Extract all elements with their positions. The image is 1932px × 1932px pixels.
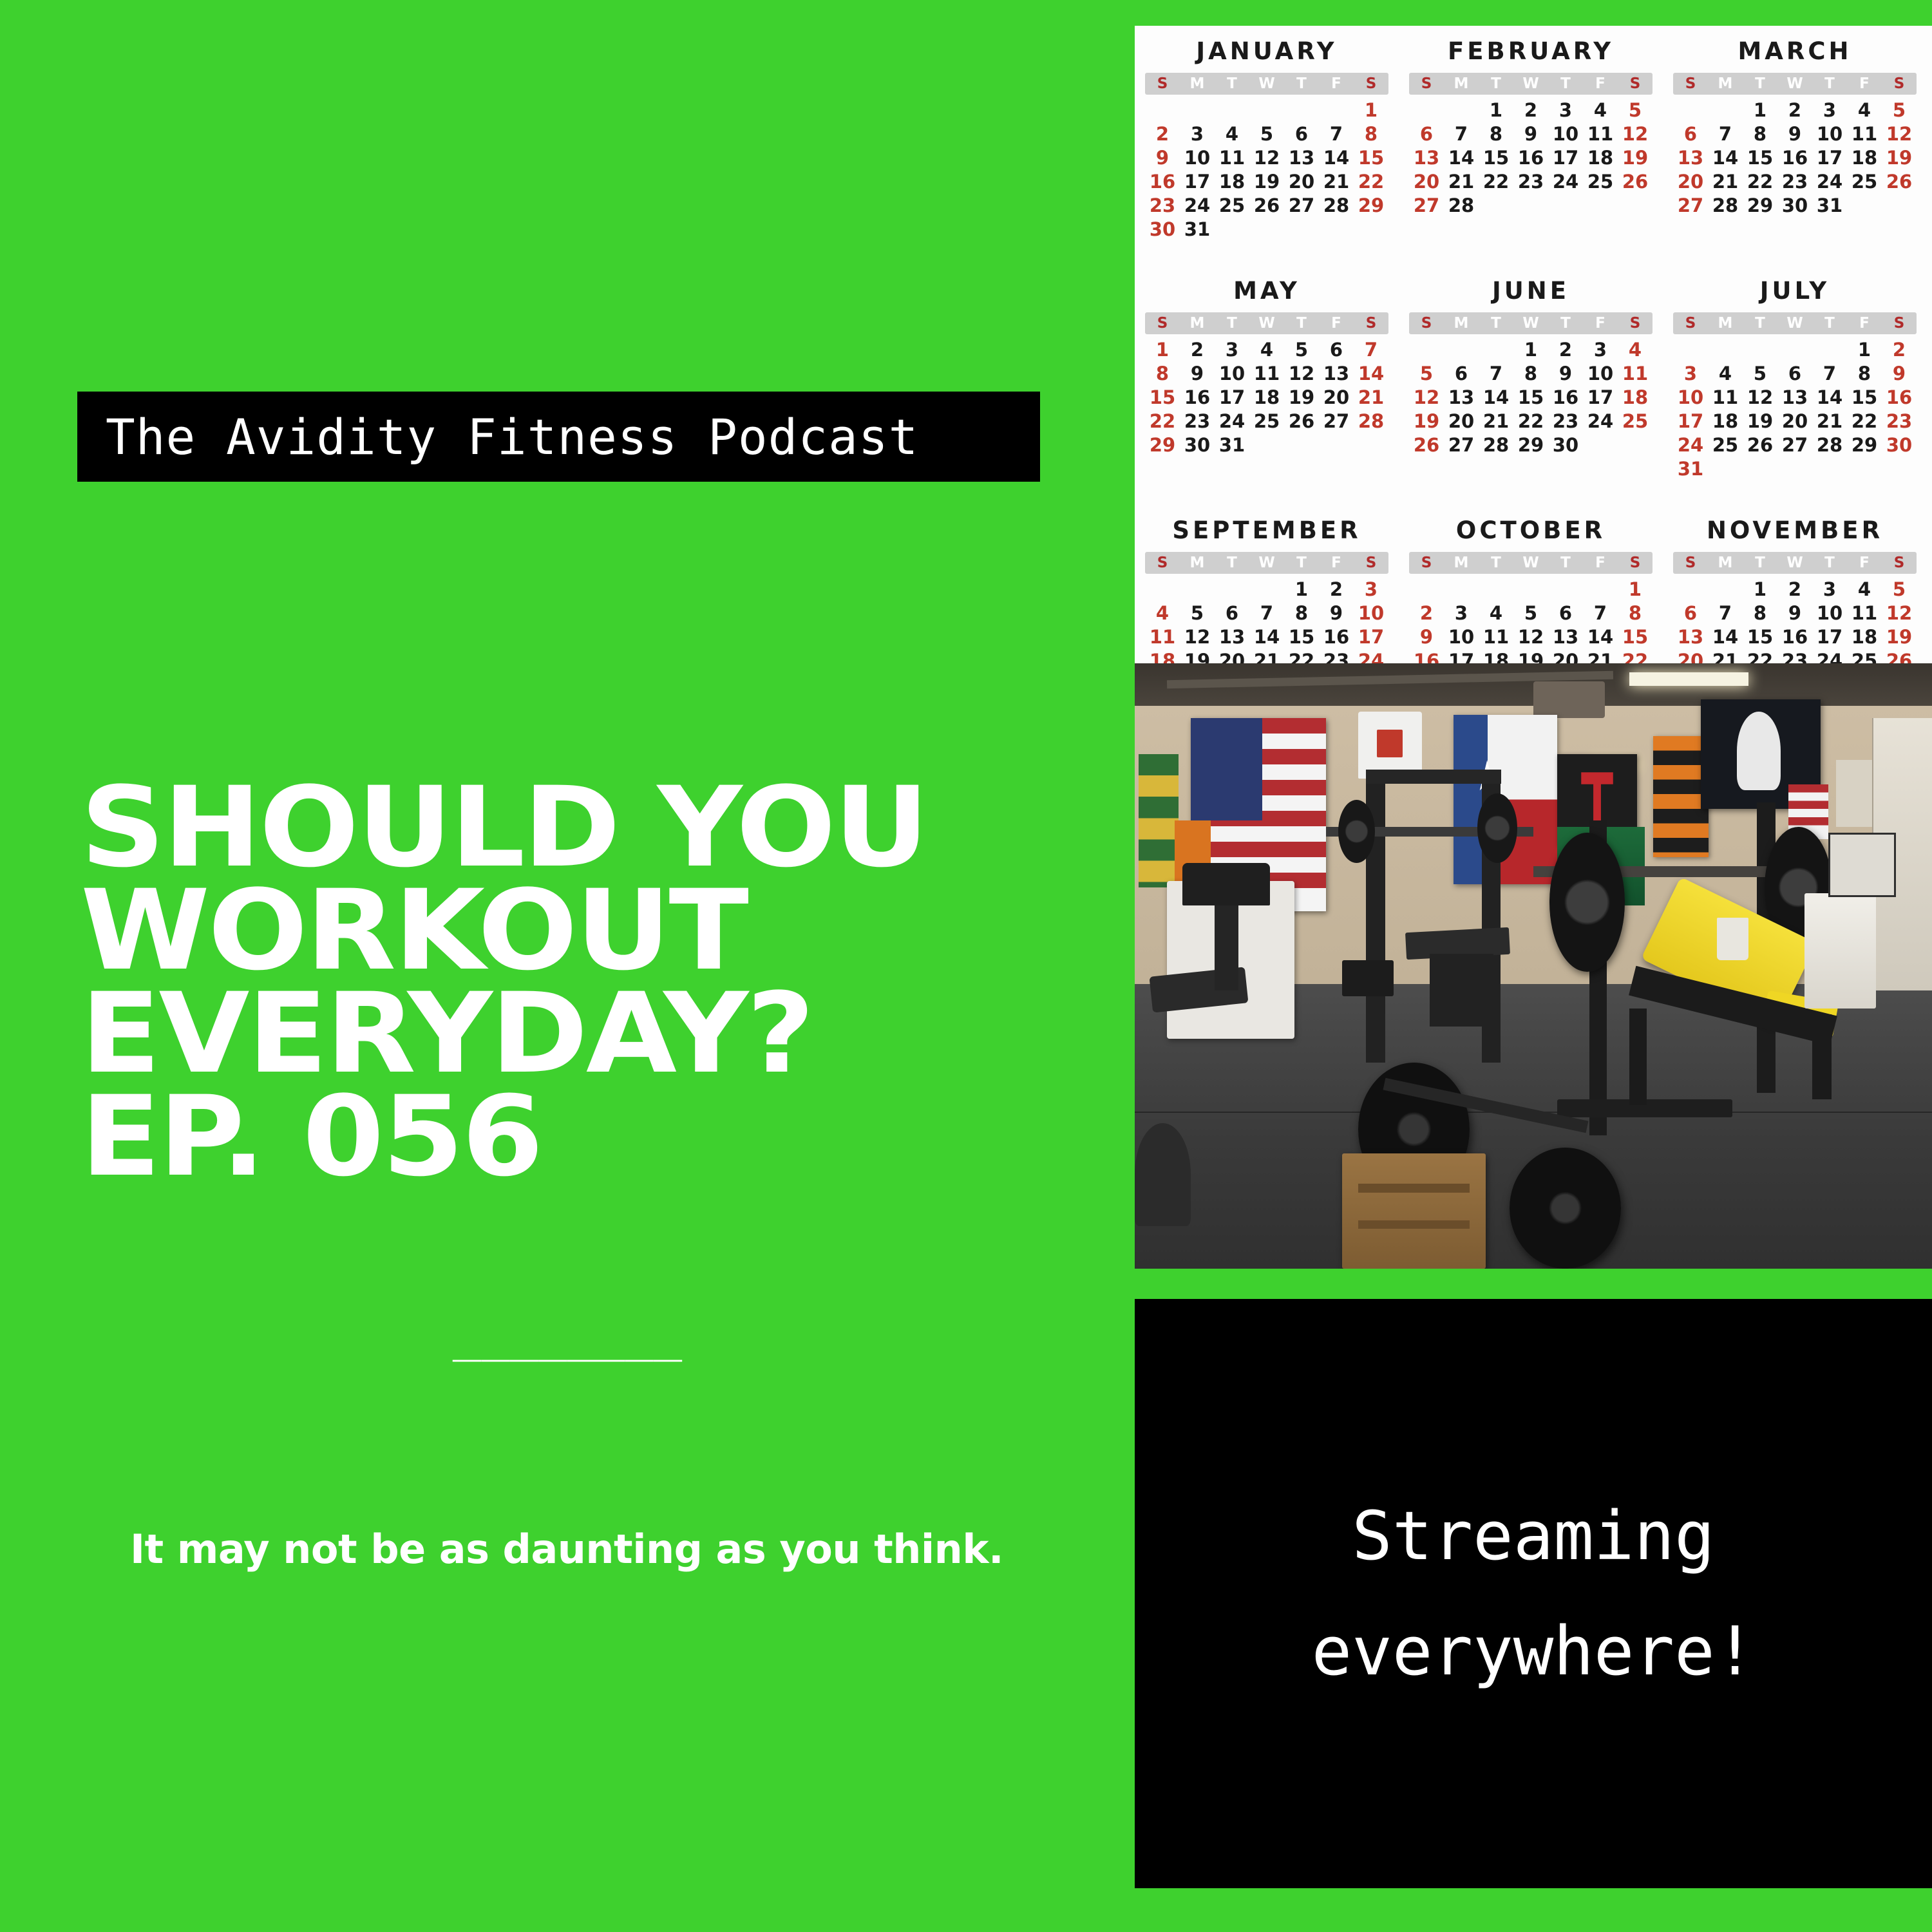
calendar-day: 7	[1708, 124, 1743, 146]
gym-scene	[1135, 663, 1932, 1269]
calendar-weekday-label: W	[1249, 315, 1284, 332]
gym-bench-leg-front	[1629, 1009, 1647, 1105]
calendar-day: 18	[1708, 411, 1743, 433]
gym-wood-box-slat-2	[1358, 1220, 1470, 1229]
calendar-day: 27	[1409, 195, 1444, 217]
calendar-weekday-label: S	[1618, 315, 1653, 332]
calendar-weekday-header: SMTWTFS	[1409, 73, 1653, 95]
calendar-day: 19	[1249, 171, 1284, 193]
calendar-day: 6	[1673, 603, 1708, 625]
calendar-day: 4	[1583, 100, 1618, 122]
calendar-day: 6	[1319, 339, 1354, 361]
calendar-day: 27	[1284, 195, 1319, 217]
calendar-days-grid: ...1234567891011121314151617181920212223…	[1405, 339, 1656, 457]
calendar-day: 2	[1777, 579, 1812, 601]
calendar-day: 26	[1618, 171, 1653, 193]
calendar-day: 20	[1409, 171, 1444, 193]
calendar-day: 8	[1618, 603, 1653, 625]
calendar-weekday-label: M	[1180, 75, 1215, 92]
calendar-weekday-header: SMTWTFS	[1145, 552, 1388, 574]
calendar-weekday-label: T	[1284, 315, 1319, 332]
calendar-day-blank: .	[1145, 100, 1180, 122]
calendar-day: 7	[1319, 124, 1354, 146]
calendar-year-grid: JanuarySMTWTFS......12345678910111213141…	[1135, 26, 1932, 670]
calendar-month: JulySMTWTFS.....123456789101112131415161…	[1663, 265, 1927, 505]
calendar-day: 24	[1215, 411, 1249, 433]
calendar-day: 12	[1249, 147, 1284, 169]
calendar-day: 17	[1548, 147, 1583, 169]
calendar-day: 25	[1215, 195, 1249, 217]
calendar-day: 12	[1180, 627, 1215, 649]
calendar-weekday-label: M	[1444, 75, 1479, 92]
calendar-day: 15	[1743, 627, 1777, 649]
calendar-day: 14	[1354, 363, 1388, 385]
calendar-day: 7	[1249, 603, 1284, 625]
calendar-day: 25	[1708, 435, 1743, 457]
calendar-day: 9	[1319, 603, 1354, 625]
calendar-month-name: October	[1405, 516, 1656, 544]
calendar-month: SeptemberSMTWTFS....12345678910111213141…	[1135, 505, 1399, 670]
calendar-day: 28	[1812, 435, 1847, 457]
calendar-month-name: February	[1405, 37, 1656, 65]
calendar-day: 10	[1215, 363, 1249, 385]
calendar-day-blank: .	[1444, 339, 1479, 361]
calendar-day-blank: .	[1673, 100, 1708, 122]
calendar-day: 30	[1882, 435, 1917, 457]
calendar-weekday-label: S	[1145, 554, 1180, 571]
calendar-weekday-label: M	[1180, 554, 1215, 571]
calendar-day: 9	[1777, 603, 1812, 625]
calendar-month: MaySMTWTFS123456789101112131415161718192…	[1135, 265, 1399, 505]
calendar-day-blank: .	[1215, 100, 1249, 122]
calendar-day: 9	[1882, 363, 1917, 385]
calendar-day: 2	[1882, 339, 1917, 361]
calendar-day-blank: .	[1708, 100, 1743, 122]
calendar-day: 27	[1444, 435, 1479, 457]
calendar-day: 2	[1548, 339, 1583, 361]
calendar-day: 3	[1444, 603, 1479, 625]
calendar-day: 9	[1513, 124, 1548, 146]
calendar-day: 13	[1777, 387, 1812, 409]
calendar-month-name: May	[1141, 277, 1392, 305]
calendar-day: 24	[1583, 411, 1618, 433]
calendar-weekday-label: F	[1847, 315, 1882, 332]
streaming-line-1: Streaming	[1352, 1479, 1715, 1594]
calendar-panel: JanuarySMTWTFS......12345678910111213141…	[1135, 26, 1932, 670]
calendar-day: 20	[1319, 387, 1354, 409]
calendar-day: 11	[1215, 147, 1249, 169]
calendar-day: 10	[1180, 147, 1215, 169]
calendar-day: 29	[1145, 435, 1180, 457]
calendar-weekday-label: T	[1548, 75, 1583, 92]
calendar-weekday-label: S	[1354, 315, 1388, 332]
calendar-day: 4	[1145, 603, 1180, 625]
calendar-month-name: January	[1141, 37, 1392, 65]
calendar-day: 15	[1145, 387, 1180, 409]
calendar-weekday-label: T	[1743, 75, 1777, 92]
calendar-day: 8	[1354, 124, 1388, 146]
calendar-day: 2	[1777, 100, 1812, 122]
calendar-day: 14	[1708, 147, 1743, 169]
calendar-day: 13	[1215, 627, 1249, 649]
calendar-weekday-label: T	[1215, 315, 1249, 332]
calendar-day: 10	[1583, 363, 1618, 385]
calendar-weekday-header: SMTWTFS	[1409, 312, 1653, 334]
calendar-day: 30	[1145, 219, 1180, 241]
calendar-day: 12	[1513, 627, 1548, 649]
calendar-day: 3	[1812, 579, 1847, 601]
gym-plate-foreground-b	[1510, 1148, 1621, 1269]
section-divider: ________	[0, 1311, 1135, 1358]
calendar-day: 22	[1513, 411, 1548, 433]
calendar-day-blank: .	[1319, 100, 1354, 122]
calendar-day: 23	[1777, 171, 1812, 193]
calendar-day: 7	[1444, 124, 1479, 146]
calendar-day: 17	[1673, 411, 1708, 433]
calendar-day: 26	[1409, 435, 1444, 457]
calendar-weekday-label: T	[1743, 554, 1777, 571]
calendar-day: 29	[1354, 195, 1388, 217]
calendar-day: 23	[1513, 171, 1548, 193]
calendar-day: 3	[1354, 579, 1388, 601]
calendar-weekday-label: T	[1548, 315, 1583, 332]
calendar-day: 1	[1479, 100, 1513, 122]
calendar-day: 11	[1249, 363, 1284, 385]
calendar-month: DecemberSMTWTFS....123456789101112131415…	[1927, 505, 1932, 670]
calendar-weekday-label: T	[1284, 554, 1319, 571]
calendar-day: 5	[1513, 603, 1548, 625]
calendar-weekday-label: T	[1479, 75, 1513, 92]
calendar-day: 8	[1145, 363, 1180, 385]
calendar-day: 15	[1284, 627, 1319, 649]
calendar-day: 6	[1548, 603, 1583, 625]
calendar-weekday-label: T	[1812, 315, 1847, 332]
calendar-weekday-label: F	[1583, 315, 1618, 332]
calendar-weekday-label: S	[1673, 315, 1708, 332]
calendar-day: 21	[1444, 171, 1479, 193]
calendar-day-blank: .	[1444, 100, 1479, 122]
calendar-weekday-label: M	[1180, 315, 1215, 332]
calendar-day: 21	[1479, 411, 1513, 433]
calendar-day: 1	[1743, 579, 1777, 601]
calendar-day-blank: .	[1479, 339, 1513, 361]
calendar-day: 9	[1777, 124, 1812, 146]
calendar-day-blank: .	[1479, 579, 1513, 601]
calendar-day: 22	[1479, 171, 1513, 193]
calendar-day: 13	[1673, 627, 1708, 649]
gym-ceiling-light-1	[1629, 672, 1749, 686]
calendar-day: 14	[1583, 627, 1618, 649]
calendar-day: 22	[1354, 171, 1388, 193]
calendar-day: 19	[1882, 627, 1917, 649]
calendar-day: 6	[1215, 603, 1249, 625]
calendar-day: 20	[1673, 171, 1708, 193]
calendar-day: 11	[1847, 124, 1882, 146]
calendar-day: 6	[1444, 363, 1479, 385]
calendar-days-grid: ..12345678910111213141516171819202122232…	[1669, 100, 1920, 217]
calendar-day-blank: .	[1777, 339, 1812, 361]
calendar-day: 18	[1618, 387, 1653, 409]
calendar-day: 20	[1444, 411, 1479, 433]
calendar-weekday-label: S	[1354, 554, 1388, 571]
calendar-day: 20	[1777, 411, 1812, 433]
calendar-weekday-label: M	[1708, 75, 1743, 92]
calendar-day-blank: .	[1249, 100, 1284, 122]
calendar-day-blank: .	[1284, 100, 1319, 122]
calendar-day: 23	[1548, 411, 1583, 433]
calendar-day: 16	[1513, 147, 1548, 169]
calendar-month-name: September	[1141, 516, 1392, 544]
calendar-day: 16	[1319, 627, 1354, 649]
calendar-day: 31	[1812, 195, 1847, 217]
calendar-days-grid: ......1234567891011121314151617181920212…	[1405, 579, 1656, 670]
calendar-day: 11	[1847, 603, 1882, 625]
calendar-day: 26	[1882, 171, 1917, 193]
calendar-day: 11	[1583, 124, 1618, 146]
calendar-weekday-label: W	[1777, 554, 1812, 571]
calendar-day: 22	[1145, 411, 1180, 433]
headline-line-2: Workout	[80, 879, 1104, 982]
calendar-weekday-label: S	[1409, 315, 1444, 332]
calendar-day: 12	[1882, 124, 1917, 146]
gym-left-green-banner	[1139, 754, 1179, 887]
calendar-day: 17	[1812, 147, 1847, 169]
podcast-title: The Avidity Fitness Podcast	[77, 408, 918, 466]
calendar-weekday-label: T	[1479, 315, 1513, 332]
calendar-day: 16	[1882, 387, 1917, 409]
calendar-day: 30	[1180, 435, 1215, 457]
calendar-weekday-header: SMTWTFS	[1673, 73, 1917, 95]
calendar-day: 19	[1618, 147, 1653, 169]
calendar-day: 25	[1249, 411, 1284, 433]
gym-big-plate-left	[1549, 833, 1625, 972]
calendar-day: 18	[1249, 387, 1284, 409]
calendar-day: 13	[1319, 363, 1354, 385]
calendar-day: 31	[1180, 219, 1215, 241]
calendar-weekday-label: S	[1409, 75, 1444, 92]
calendar-day: 21	[1319, 171, 1354, 193]
gym-rack-plate-left	[1338, 800, 1375, 864]
calendar-day: 13	[1673, 147, 1708, 169]
gym-rack-bench-legs	[1430, 954, 1493, 1027]
calendar-weekday-label: M	[1444, 315, 1479, 332]
calendar-day: 5	[1284, 339, 1319, 361]
calendar-day: 3	[1180, 124, 1215, 146]
calendar-weekday-label: M	[1708, 315, 1743, 332]
calendar-weekday-label: T	[1743, 315, 1777, 332]
calendar-day: 28	[1444, 195, 1479, 217]
calendar-day-blank: .	[1444, 579, 1479, 601]
calendar-day: 4	[1249, 339, 1284, 361]
calendar-weekday-label: F	[1319, 75, 1354, 92]
calendar-day: 1	[1354, 100, 1388, 122]
calendar-day: 24	[1673, 435, 1708, 457]
calendar-day-blank: .	[1145, 579, 1180, 601]
calendar-day: 2	[1145, 124, 1180, 146]
calendar-day: 13	[1548, 627, 1583, 649]
calendar-day: 6	[1409, 124, 1444, 146]
calendar-day: 30	[1777, 195, 1812, 217]
calendar-weekday-label: F	[1583, 554, 1618, 571]
calendar-day: 5	[1743, 363, 1777, 385]
calendar-day: 15	[1479, 147, 1513, 169]
calendar-weekday-label: F	[1583, 75, 1618, 92]
calendar-day: 11	[1145, 627, 1180, 649]
calendar-weekday-header: SMTWTFS	[1673, 552, 1917, 574]
calendar-weekday-label: S	[1618, 554, 1653, 571]
calendar-day: 16	[1548, 387, 1583, 409]
headline-line-1: Should You	[80, 776, 1104, 879]
calendar-days-grid: ....123456789101112131415161718192021222…	[1141, 579, 1392, 670]
calendar-day: 13	[1284, 147, 1319, 169]
calendar-day-blank: .	[1708, 339, 1743, 361]
calendar-day: 1	[1284, 579, 1319, 601]
calendar-day: 28	[1708, 195, 1743, 217]
calendar-day: 1	[1513, 339, 1548, 361]
calendar-weekday-header: SMTWTFS	[1145, 312, 1388, 334]
calendar-day: 17	[1215, 387, 1249, 409]
calendar-days-grid: 1234567891011121314151617181920212223242…	[1141, 339, 1392, 457]
calendar-day: 23	[1882, 411, 1917, 433]
calendar-weekday-label: S	[1673, 75, 1708, 92]
gym-leg-machine-pad-top	[1182, 863, 1270, 905]
calendar-day: 16	[1777, 627, 1812, 649]
calendar-day: 14	[1479, 387, 1513, 409]
calendar-month-name: November	[1669, 516, 1920, 544]
calendar-month: AprilSMTWTFS.....12345678910111213141516…	[1927, 26, 1932, 265]
calendar-day: 27	[1777, 435, 1812, 457]
calendar-month-name: March	[1669, 37, 1920, 65]
calendar-day: 8	[1513, 363, 1548, 385]
calendar-day-blank: .	[1708, 579, 1743, 601]
calendar-day: 16	[1145, 171, 1180, 193]
gym-power-rack-top	[1366, 770, 1501, 784]
calendar-day: 7	[1583, 603, 1618, 625]
calendar-day: 27	[1319, 411, 1354, 433]
gym-lifter-silhouette	[1737, 712, 1781, 790]
calendar-day: 3	[1215, 339, 1249, 361]
calendar-day: 29	[1513, 435, 1548, 457]
calendar-day: 8	[1479, 124, 1513, 146]
calendar-day: 10	[1548, 124, 1583, 146]
calendar-month-name: July	[1669, 277, 1920, 305]
calendar-day: 15	[1743, 147, 1777, 169]
calendar-day: 7	[1479, 363, 1513, 385]
calendar-day: 28	[1354, 411, 1388, 433]
calendar-day: 14	[1708, 627, 1743, 649]
calendar-day: 2	[1513, 100, 1548, 122]
calendar-day: 3	[1812, 100, 1847, 122]
left-content-column: The Avidity Fitness Podcast Should You W…	[0, 0, 1135, 1932]
calendar-weekday-header: SMTWTFS	[1145, 73, 1388, 95]
calendar-day: 8	[1284, 603, 1319, 625]
calendar-day: 12	[1618, 124, 1653, 146]
calendar-month: JanuarySMTWTFS......12345678910111213141…	[1135, 26, 1399, 265]
calendar-day: 6	[1673, 124, 1708, 146]
calendar-day: 14	[1812, 387, 1847, 409]
calendar-weekday-label: S	[1882, 554, 1917, 571]
calendar-weekday-label: F	[1847, 554, 1882, 571]
calendar-day: 16	[1180, 387, 1215, 409]
calendar-day: 3	[1673, 363, 1708, 385]
calendar-day-blank: .	[1180, 100, 1215, 122]
gym-rack-plate-right	[1477, 793, 1517, 863]
calendar-weekday-label: W	[1777, 315, 1812, 332]
calendar-weekday-header: SMTWTFS	[1409, 552, 1653, 574]
calendar-day: 26	[1284, 411, 1319, 433]
calendar-day: 9	[1145, 147, 1180, 169]
calendar-day: 10	[1812, 603, 1847, 625]
calendar-weekday-label: S	[1673, 554, 1708, 571]
calendar-day: 7	[1354, 339, 1388, 361]
calendar-day-blank: .	[1249, 579, 1284, 601]
calendar-day-blank: .	[1180, 579, 1215, 601]
calendar-day: 12	[1882, 603, 1917, 625]
calendar-weekday-label: W	[1513, 315, 1548, 332]
calendar-day: 6	[1284, 124, 1319, 146]
calendar-day-blank: .	[1673, 339, 1708, 361]
calendar-day: 29	[1847, 435, 1882, 457]
calendar-day: 11	[1618, 363, 1653, 385]
headline-line-3: Everyday?	[80, 982, 1104, 1085]
calendar-weekday-label: S	[1354, 75, 1388, 92]
calendar-weekday-label: T	[1812, 554, 1847, 571]
calendar-weekday-label: T	[1548, 554, 1583, 571]
calendar-day: 1	[1847, 339, 1882, 361]
calendar-weekday-label: W	[1249, 75, 1284, 92]
calendar-weekday-label: S	[1145, 315, 1180, 332]
calendar-day: 12	[1743, 387, 1777, 409]
calendar-day: 11	[1479, 627, 1513, 649]
calendar-day: 6	[1777, 363, 1812, 385]
calendar-day: 10	[1354, 603, 1388, 625]
calendar-weekday-label: W	[1513, 75, 1548, 92]
calendar-day: 24	[1548, 171, 1583, 193]
calendar-day: 19	[1882, 147, 1917, 169]
calendar-day: 2	[1319, 579, 1354, 601]
calendar-day: 2	[1180, 339, 1215, 361]
calendar-weekday-label: F	[1847, 75, 1882, 92]
calendar-day: 9	[1409, 627, 1444, 649]
calendar-day: 26	[1249, 195, 1284, 217]
episode-headline: Should You Workout Everyday? Ep. 056	[80, 776, 1104, 1188]
calendar-day-blank: .	[1673, 579, 1708, 601]
calendar-day-blank: .	[1215, 579, 1249, 601]
calendar-weekday-label: W	[1777, 75, 1812, 92]
calendar-day: 5	[1180, 603, 1215, 625]
calendar-day: 23	[1145, 195, 1180, 217]
calendar-day: 4	[1847, 579, 1882, 601]
calendar-day: 12	[1409, 387, 1444, 409]
gym-bucket	[1717, 918, 1749, 960]
calendar-day: 26	[1743, 435, 1777, 457]
calendar-day: 9	[1180, 363, 1215, 385]
calendar-day: 15	[1513, 387, 1548, 409]
calendar-day: 15	[1618, 627, 1653, 649]
calendar-day: 4	[1618, 339, 1653, 361]
calendar-weekday-label: W	[1249, 554, 1284, 571]
calendar-weekday-label: T	[1215, 554, 1249, 571]
calendar-day-blank: .	[1548, 579, 1583, 601]
calendar-day: 22	[1847, 411, 1882, 433]
calendar-month: MarchSMTWTFS..12345678910111213141516171…	[1663, 26, 1927, 265]
calendar-days-grid: .....12345678910111213141516171819202122…	[1669, 339, 1920, 480]
calendar-day: 20	[1284, 171, 1319, 193]
calendar-day: 14	[1319, 147, 1354, 169]
calendar-weekday-label: T	[1479, 554, 1513, 571]
calendar-day-blank: .	[1743, 339, 1777, 361]
calendar-day: 8	[1743, 124, 1777, 146]
